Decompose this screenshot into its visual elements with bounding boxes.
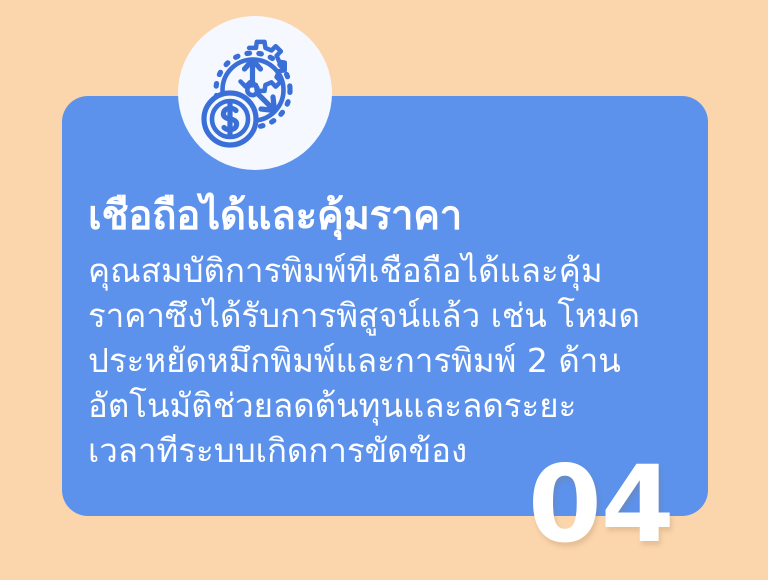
feature-icon-badge [178,16,332,170]
body-line: คุณสมบัติการพิมพ์ทีเชือถือได้และคุ้ม [88,248,688,293]
step-number: 04 [528,452,674,558]
body-line: ราคาซึงได้รับการพิสูจน์แล้ว เช่น โหมด [88,293,688,338]
body-line: ประหยัดหมึกพิมพ์และการพิมพ์ 2 ด้าน [88,338,688,383]
card-heading: เชือถือได้และคุ้มราคา [88,190,688,244]
body-line: อัตโนมัติช่วยลดต้นทุนและลดระยะ [88,383,688,428]
clock-gear-money-icon [197,35,313,151]
card-body: คุณสมบัติการพิมพ์ทีเชือถือได้และคุ้ม ราค… [88,248,688,474]
card-content: เชือถือได้และคุ้มราคา คุณสมบัติการพิมพ์ท… [88,190,688,474]
